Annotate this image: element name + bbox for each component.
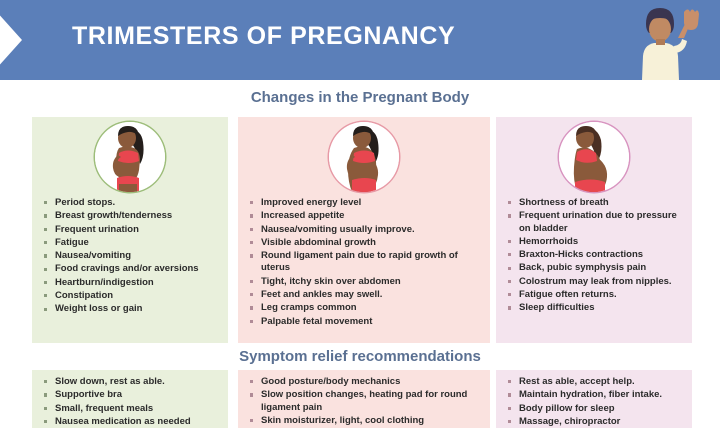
list-item: Food cravings and/or aversions bbox=[42, 263, 222, 275]
figure-second-trimester bbox=[329, 122, 399, 192]
list-item: Rest as able, accept help. bbox=[506, 376, 686, 388]
list-item: Weight loss or gain bbox=[42, 303, 222, 315]
section-heading-relief: Symptom relief recommendations bbox=[0, 348, 720, 365]
list-item: Palpable fetal movement bbox=[248, 316, 484, 328]
pregnant-woman-second-trimester-illustration-icon bbox=[329, 122, 399, 192]
relief-list-second-trimester: Good posture/body mechanics Slow positio… bbox=[248, 376, 484, 428]
pregnant-woman-third-trimester-illustration-icon bbox=[559, 122, 629, 192]
list-item: Round ligament pain due to rapid growth … bbox=[248, 250, 484, 274]
list-item: Shortness of breath bbox=[506, 197, 686, 209]
page-title: TRIMESTERS OF PREGNANCY bbox=[72, 22, 455, 51]
figure-first-trimester bbox=[95, 122, 165, 192]
list-item: Back, pubic symphysis pain bbox=[506, 262, 686, 274]
list-item: Slow position changes, heating pad for r… bbox=[248, 389, 484, 413]
list-item: Slow down, rest as able. bbox=[42, 376, 222, 388]
list-item: Breast growth/tenderness bbox=[42, 210, 222, 222]
list-item: Good posture/body mechanics bbox=[248, 376, 484, 388]
list-item: Heartburn/indigestion bbox=[42, 277, 222, 289]
changes-list-second-trimester: Improved energy level Increased appetite… bbox=[248, 197, 484, 329]
list-item: Sleep difficulties bbox=[506, 302, 686, 314]
chevron-right-arrow-icon bbox=[0, 12, 22, 68]
relief-list-first-trimester: Slow down, rest as able. Supportive bra … bbox=[42, 376, 222, 428]
list-item: Colostrum may leak from nipples. bbox=[506, 276, 686, 288]
list-item: Period stops. bbox=[42, 197, 222, 209]
header-banner: TRIMESTERS OF PREGNANCY bbox=[0, 0, 720, 80]
list-item: Skin moisturizer, light, cool clothing bbox=[248, 415, 484, 427]
list-item: Maintain hydration, fiber intake. bbox=[506, 389, 686, 401]
figure-third-trimester bbox=[559, 122, 629, 192]
list-item: Frequent urination bbox=[42, 224, 222, 236]
waving-person-avatar-icon bbox=[630, 4, 702, 80]
panel-relief-third-trimester: Rest as able, accept help. Maintain hydr… bbox=[496, 370, 692, 428]
list-item: Body pillow for sleep bbox=[506, 403, 686, 415]
list-item: Improved energy level bbox=[248, 197, 484, 209]
list-item: Visible abdominal growth bbox=[248, 237, 484, 249]
list-item: Tight, itchy skin over abdomen bbox=[248, 276, 484, 288]
list-item: Hemorrhoids bbox=[506, 236, 686, 248]
list-item: Frequent urination due to pressure on bl… bbox=[506, 210, 686, 234]
list-item: Nausea/vomiting usually improve. bbox=[248, 224, 484, 236]
panel-changes-third-trimester: Shortness of breath Frequent urination d… bbox=[496, 117, 692, 343]
list-item: Constipation bbox=[42, 290, 222, 302]
list-item: Nausea medication as needed bbox=[42, 416, 222, 428]
infographic-page: TRIMESTERS OF PREGNANCY Changes in the P… bbox=[0, 0, 720, 428]
list-item: Fatigue bbox=[42, 237, 222, 249]
list-item: Fatigue often returns. bbox=[506, 289, 686, 301]
list-item: Small, frequent meals bbox=[42, 403, 222, 415]
relief-list-third-trimester: Rest as able, accept help. Maintain hydr… bbox=[506, 376, 686, 428]
changes-list-first-trimester: Period stops. Breast growth/tenderness F… bbox=[42, 197, 222, 317]
panel-changes-first-trimester: Period stops. Breast growth/tenderness F… bbox=[32, 117, 228, 343]
list-item: Increased appetite bbox=[248, 210, 484, 222]
pregnant-woman-first-trimester-illustration-icon bbox=[95, 122, 165, 192]
panel-changes-second-trimester: Improved energy level Increased appetite… bbox=[238, 117, 490, 343]
panel-relief-second-trimester: Good posture/body mechanics Slow positio… bbox=[238, 370, 490, 428]
list-item: Leg cramps common bbox=[248, 302, 484, 314]
panel-relief-first-trimester: Slow down, rest as able. Supportive bra … bbox=[32, 370, 228, 428]
list-item: Braxton-Hicks contractions bbox=[506, 249, 686, 261]
list-item: Massage, chiropractor bbox=[506, 416, 686, 428]
list-item: Supportive bra bbox=[42, 389, 222, 401]
list-item: Feet and ankles may swell. bbox=[248, 289, 484, 301]
changes-list-third-trimester: Shortness of breath Frequent urination d… bbox=[506, 197, 686, 316]
section-heading-changes: Changes in the Pregnant Body bbox=[0, 89, 720, 106]
list-item: Nausea/vomiting bbox=[42, 250, 222, 262]
